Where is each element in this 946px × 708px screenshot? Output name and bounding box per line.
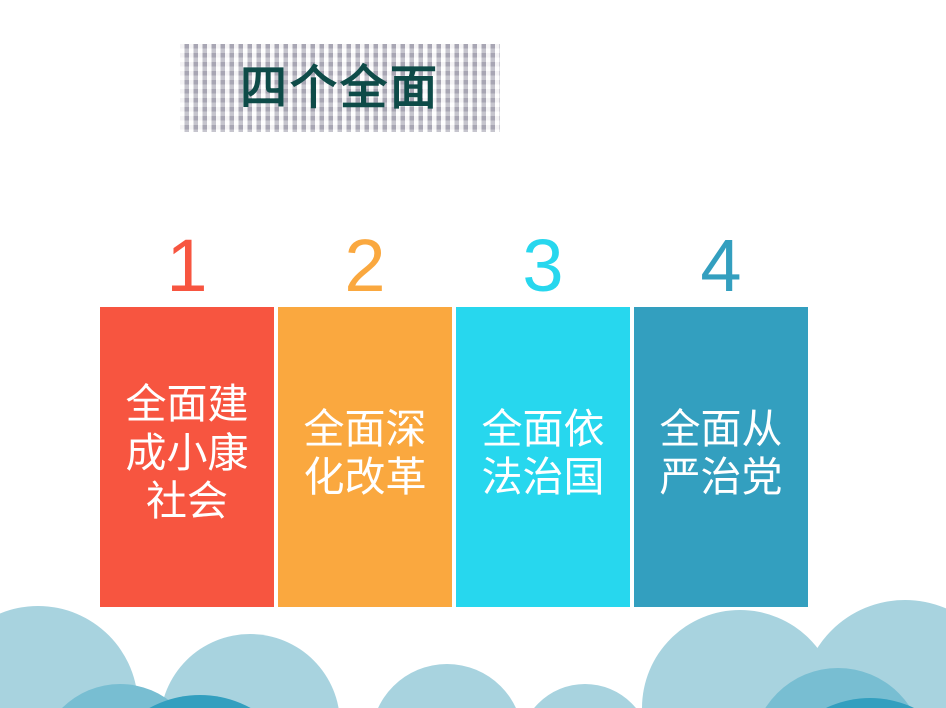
column-quan-mian-yi-fa-zhi-guo[interactable]: 全面依 法治国 <box>456 307 630 607</box>
column-text-line: 成小康 <box>126 429 249 477</box>
column-text-line: 全面从 <box>660 405 783 453</box>
number-cell-3: 3 <box>456 215 630 300</box>
number-label-3: 3 <box>522 232 563 300</box>
cloud-layer-medium <box>0 668 924 708</box>
column-text-line: 全面建 <box>126 380 249 428</box>
column-text-line: 法治国 <box>482 453 605 501</box>
column-text-line: 严治党 <box>660 453 783 501</box>
column-quan-mian-cong-yan-zhi-dang[interactable]: 全面从 严治党 <box>634 307 808 607</box>
page-title: 四个全面 <box>240 65 440 112</box>
number-cell-1: 1 <box>100 215 274 300</box>
content-columns: 全面建 成小康 社会 全面深 化改革 全面依 法治国 全面从 严治党 <box>100 307 808 607</box>
column-quan-mian-jian-cheng-xiao-kang-she-hui[interactable]: 全面建 成小康 社会 <box>100 307 274 607</box>
number-label-4: 4 <box>700 232 741 300</box>
slide-canvas: 四个全面 1 2 3 4 全面建 成小康 社会 全面深 化改革 全面依 法治国 <box>0 0 946 708</box>
column-text-line: 社会 <box>146 477 228 525</box>
number-cell-4: 4 <box>634 215 808 300</box>
column-text-line: 全面依 <box>482 405 605 453</box>
number-label-1: 1 <box>166 232 207 300</box>
column-text-line: 化改革 <box>304 453 427 501</box>
numbers-row: 1 2 3 4 <box>100 215 808 300</box>
cloud-layer-light <box>0 600 946 708</box>
column-quan-mian-shen-hua-gai-ge[interactable]: 全面深 化改革 <box>278 307 452 607</box>
title-plaque: 四个全面 <box>180 44 500 132</box>
column-text-line: 全面深 <box>304 405 427 453</box>
number-cell-2: 2 <box>278 215 452 300</box>
number-label-2: 2 <box>344 232 385 300</box>
cloud-layer-dark <box>0 695 946 708</box>
